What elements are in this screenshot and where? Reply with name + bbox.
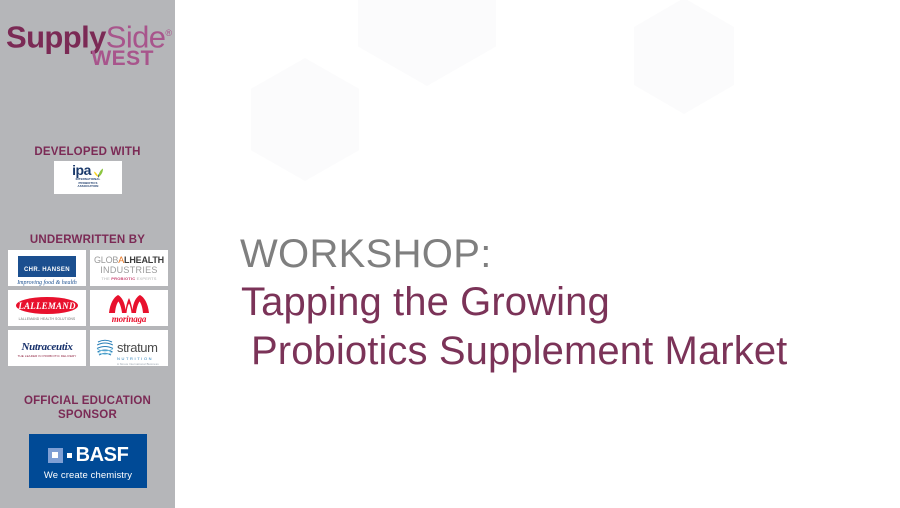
ghi-tagline: THE PROBIOTIC EXPERTS: [90, 276, 168, 281]
sidebar: SupplySide® WEST DEVELOPED WITH ipa INTE…: [0, 0, 175, 508]
nutraceutix-logo-card: Nutraceutix THE LEADER IN PROBIOTIC DELI…: [8, 330, 86, 366]
lallemand-wordmark: LALLEMAND: [18, 301, 75, 311]
chr-hansen-wordmark: CHR. HANSEN: [24, 267, 70, 273]
hexagon-icon: [628, 0, 740, 120]
chr-hansen-wordmark-box: CHR. HANSEN: [18, 256, 76, 277]
underwritten-by-heading: UNDERWRITTEN BY: [0, 233, 175, 247]
basf-tagline: We create chemistry: [29, 470, 147, 481]
sponsor-heading-line1: OFFICIAL EDUCATION: [0, 394, 175, 408]
ipa-wordmark: ipa: [72, 164, 91, 177]
wave-sphere-icon: [95, 337, 115, 357]
ghi-line1-d: HEALTH: [129, 255, 164, 265]
ghi-tag-c: EXPERTS: [135, 276, 156, 281]
global-health-industries-logo-card: GLOBALHEALTH INDUSTRIES THE PROBIOTIC EX…: [90, 250, 168, 286]
ipa-subtitle-line3: ASSOCIATION: [54, 185, 122, 189]
ghi-tag-a: THE: [101, 276, 111, 281]
supplyside-west-logo: SupplySide® WEST: [6, 18, 171, 71]
stratum-logo-row: stratum: [95, 337, 168, 357]
stratum-subtitle: NUTRITION: [117, 356, 168, 361]
nutraceutix-wordmark: Nutraceutix: [8, 341, 86, 353]
basf-dot-icon: [67, 453, 72, 458]
underwriter-logo-grid: CHR. HANSEN Improving food & health GLOB…: [8, 250, 168, 366]
basf-logo-row: BASF: [29, 445, 147, 465]
ghi-tag-b: PROBIOTIC: [111, 276, 135, 281]
stratum-nutrition-logo-card: stratum NUTRITION A Novus International …: [90, 330, 168, 366]
page-title-line2: Probiotics Supplement Market: [251, 327, 880, 376]
page-title-line1: Tapping the Growing: [241, 278, 880, 327]
developed-with-heading: DEVELOPED WITH: [0, 145, 175, 159]
presentation-slide: SupplySide® WEST DEVELOPED WITH ipa INTE…: [0, 0, 900, 508]
nutraceutix-tagline: THE LEADER IN PROBIOTIC DELIVERY: [8, 354, 86, 358]
lallemand-tagline: LALLEMAND HEALTH SOLUTIONS: [8, 317, 86, 321]
ghi-line1: GLOBALHEALTH: [90, 255, 168, 265]
official-education-sponsor-heading: OFFICIAL EDUCATION SPONSOR: [0, 394, 175, 422]
hexagon-icon: [352, 0, 502, 92]
hexagon-icon: [245, 52, 365, 187]
slide-title-block: WORKSHOP: Tapping the Growing Probiotics…: [240, 231, 880, 376]
basf-square-icon: [48, 448, 63, 463]
ipa-logo-row: ipa: [54, 164, 122, 177]
basf-logo-card: BASF We create chemistry: [29, 434, 147, 488]
stratum-wordmark: stratum: [117, 341, 158, 354]
ghi-line2: INDUSTRIES: [90, 265, 168, 275]
morinaga-wordmark: morinaga: [90, 314, 168, 324]
ghi-line1-a: GLOB: [94, 255, 118, 265]
ipa-logo-card: ipa INTERNATIONAL PROBIOTICS ASSOCIATION: [54, 161, 122, 194]
workshop-eyebrow-text: WORKSHOP:: [240, 231, 880, 278]
basf-wordmark: BASF: [76, 445, 129, 465]
ipa-subtitle: INTERNATIONAL PROBIOTICS ASSOCIATION: [54, 178, 122, 189]
stratum-tagline: A Novus International Business: [117, 362, 168, 366]
lallemand-logo-card: LALLEMAND LALLEMAND HEALTH SOLUTIONS: [8, 290, 86, 326]
registered-trademark-icon: ®: [165, 28, 171, 38]
sponsor-heading-line2: SPONSOR: [0, 408, 175, 422]
morinaga-m-icon: [107, 294, 151, 313]
leaf-icon: [93, 165, 104, 176]
morinaga-logo-card: morinaga: [90, 290, 168, 326]
chr-hansen-tagline: Improving food & health: [8, 280, 86, 286]
lallemand-oval: LALLEMAND: [16, 297, 78, 314]
chr-hansen-logo-card: CHR. HANSEN Improving food & health: [8, 250, 86, 286]
